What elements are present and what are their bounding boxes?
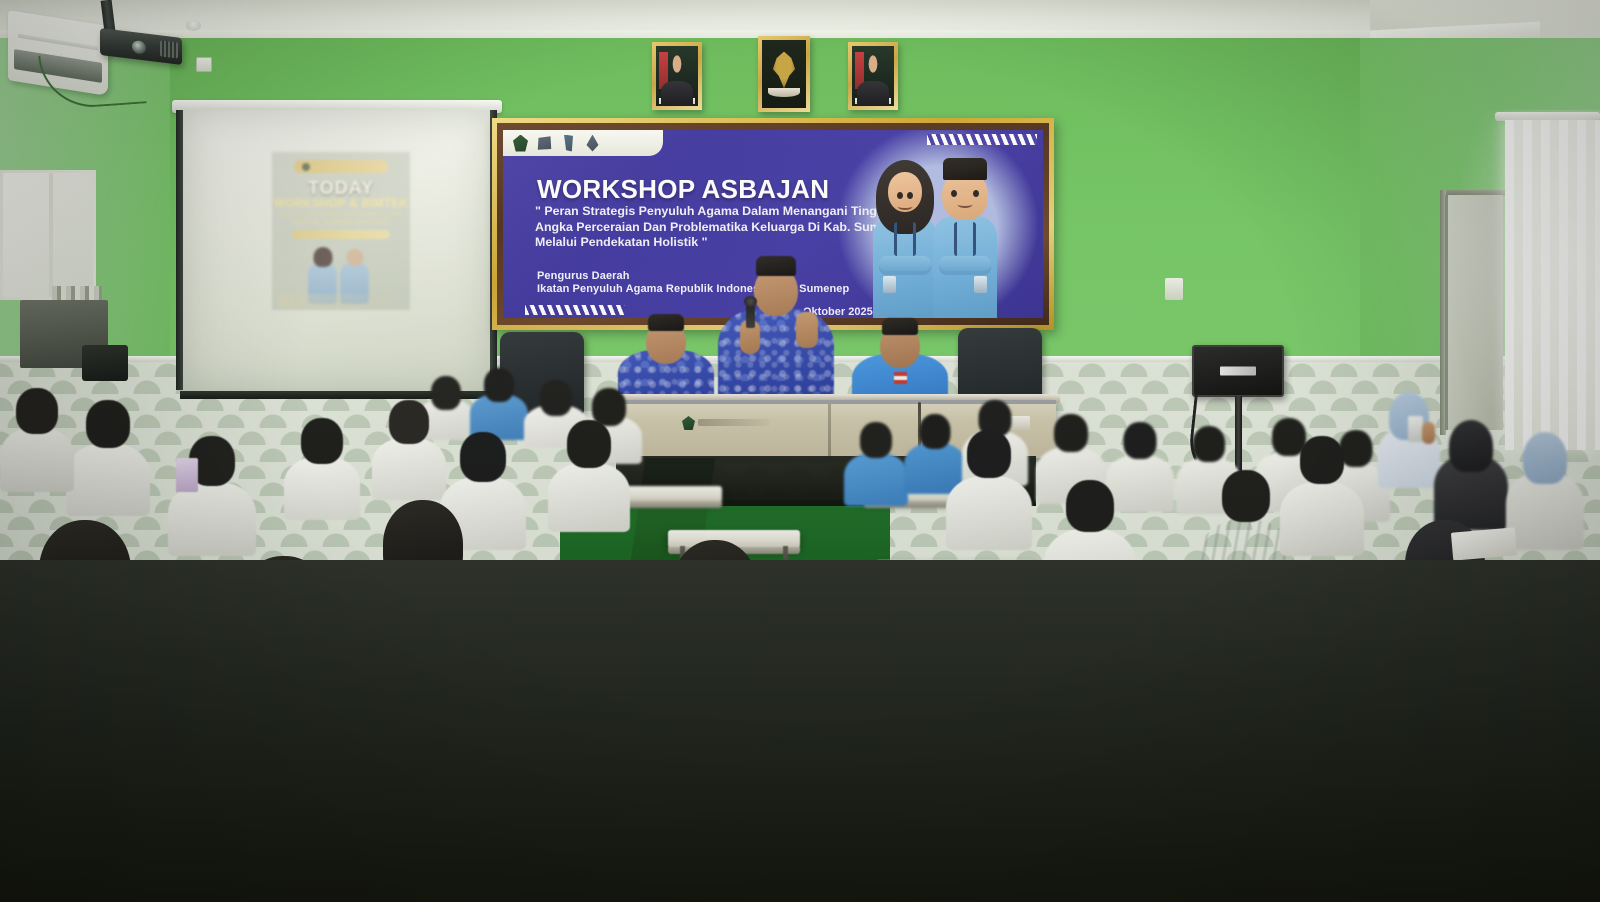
notebook [1451, 527, 1517, 560]
attendee-taking-photo [1378, 392, 1440, 488]
attendee [548, 420, 630, 532]
hijab-icon [1449, 420, 1493, 472]
mascot-face [888, 172, 922, 212]
attendee [168, 436, 256, 556]
hijab-icon [1523, 432, 1567, 484]
side-monitor [82, 345, 128, 381]
mascot-eye-left [951, 190, 957, 197]
peci-icon [967, 430, 1011, 478]
mascot-male [933, 216, 997, 318]
screen-edge-left [176, 110, 183, 390]
mascot-eye-left [897, 192, 903, 199]
table-seam [828, 404, 831, 458]
attendee [946, 430, 1032, 550]
attendee [66, 400, 150, 516]
portrait-president [652, 42, 702, 110]
panelist-left-peci-icon [648, 314, 684, 331]
ac-slit [18, 34, 98, 51]
speaker-hand-right [796, 312, 818, 348]
slide-mascot-head [346, 249, 363, 266]
projector-grille [160, 40, 178, 58]
banner-subtitle: " Peran Strategis Penyuluh Agama Dalam M… [535, 204, 923, 251]
peci-icon [1066, 480, 1114, 532]
floor [0, 560, 1600, 902]
slide-mascot-hijab [313, 247, 332, 267]
left-window [0, 170, 96, 300]
attendee [1434, 420, 1508, 530]
panelist-right-peci-icon [882, 318, 918, 335]
curtained-window [1505, 120, 1600, 450]
slide-accent-bar [292, 230, 390, 239]
side-door[interactable] [1445, 195, 1503, 430]
peci-icon [301, 418, 343, 464]
attendee [0, 388, 74, 492]
peci-icon [16, 388, 58, 434]
attendee [1280, 436, 1364, 556]
speaker-peci-icon [756, 256, 796, 276]
attendee [470, 366, 528, 440]
banner-stripes-bottom [525, 305, 625, 315]
window-mullion [49, 173, 53, 297]
korpri-emblem-icon [682, 416, 695, 430]
mascot-smile [958, 201, 973, 208]
mascot-id-badge [883, 276, 896, 293]
table-emblem-text [698, 419, 770, 426]
pa-speaker-label [1220, 367, 1256, 376]
peci-icon [1300, 436, 1344, 484]
mascot-id-badge [974, 276, 987, 293]
banner-stripes-top [927, 134, 1037, 145]
mascot-crossed-arms [939, 256, 991, 271]
mascot-lanyard [954, 222, 976, 256]
mascot-crossed-arms [879, 256, 931, 271]
attendee [844, 420, 908, 506]
portrait-plate [855, 98, 890, 104]
peci-icon [460, 432, 506, 482]
seminar-room-photo: TODAY WORKSHOP & BIMTEK PENYULUH AGAMA D… [0, 0, 1600, 902]
slide-footer [278, 294, 388, 308]
indonesian-flag-patch-icon [894, 372, 907, 384]
garuda-emblem-icon [771, 52, 797, 89]
banner-title: WORKSHOP ASBAJAN [537, 174, 907, 205]
smartphone-icon[interactable] [176, 458, 198, 492]
speaker-center [718, 250, 834, 415]
smartphone-icon[interactable] [1408, 416, 1423, 442]
hook-emblem-logo-icon [561, 135, 576, 152]
garuda-scroll [768, 88, 800, 98]
slide-subheading: WORKSHOP & BIMTEK [272, 198, 410, 210]
arabic-calligraphy-logo-icon [537, 135, 552, 152]
banner-logo-strip [503, 130, 663, 156]
banner-mascots [871, 152, 1027, 318]
portrait-plate [659, 98, 694, 104]
microphone-head [744, 296, 757, 307]
projected-slide: TODAY WORKSHOP & BIMTEK PENYULUH AGAMA D… [272, 152, 410, 310]
peci-icon [567, 420, 611, 468]
mascot-lanyard [894, 222, 916, 256]
portrait-vice-president [848, 42, 898, 110]
garuda-pancasila [758, 36, 810, 112]
mascot-eye-right [973, 190, 979, 197]
wall-box [1165, 278, 1183, 300]
kemenag-pentagon-logo-icon [513, 135, 528, 152]
peci-icon [389, 400, 429, 444]
mascot-eye-right [907, 192, 913, 199]
slide-logo-bar [294, 160, 388, 173]
wall-socket [196, 57, 212, 72]
mascot-peci-icon [943, 158, 987, 180]
slide-body: PENYULUH AGAMA DAN PENYULUH NON PNS KAB.… [278, 212, 404, 227]
mascot-smile [898, 203, 913, 210]
attendee [372, 400, 446, 500]
slide-logo-icon [302, 163, 310, 171]
peci-icon [86, 400, 130, 448]
smoke-detector [186, 20, 201, 31]
mascot-female [873, 216, 937, 318]
pa-speaker [1192, 345, 1284, 397]
slide-heading: TODAY [272, 178, 410, 199]
droplet-emblem-logo-icon [585, 135, 600, 152]
